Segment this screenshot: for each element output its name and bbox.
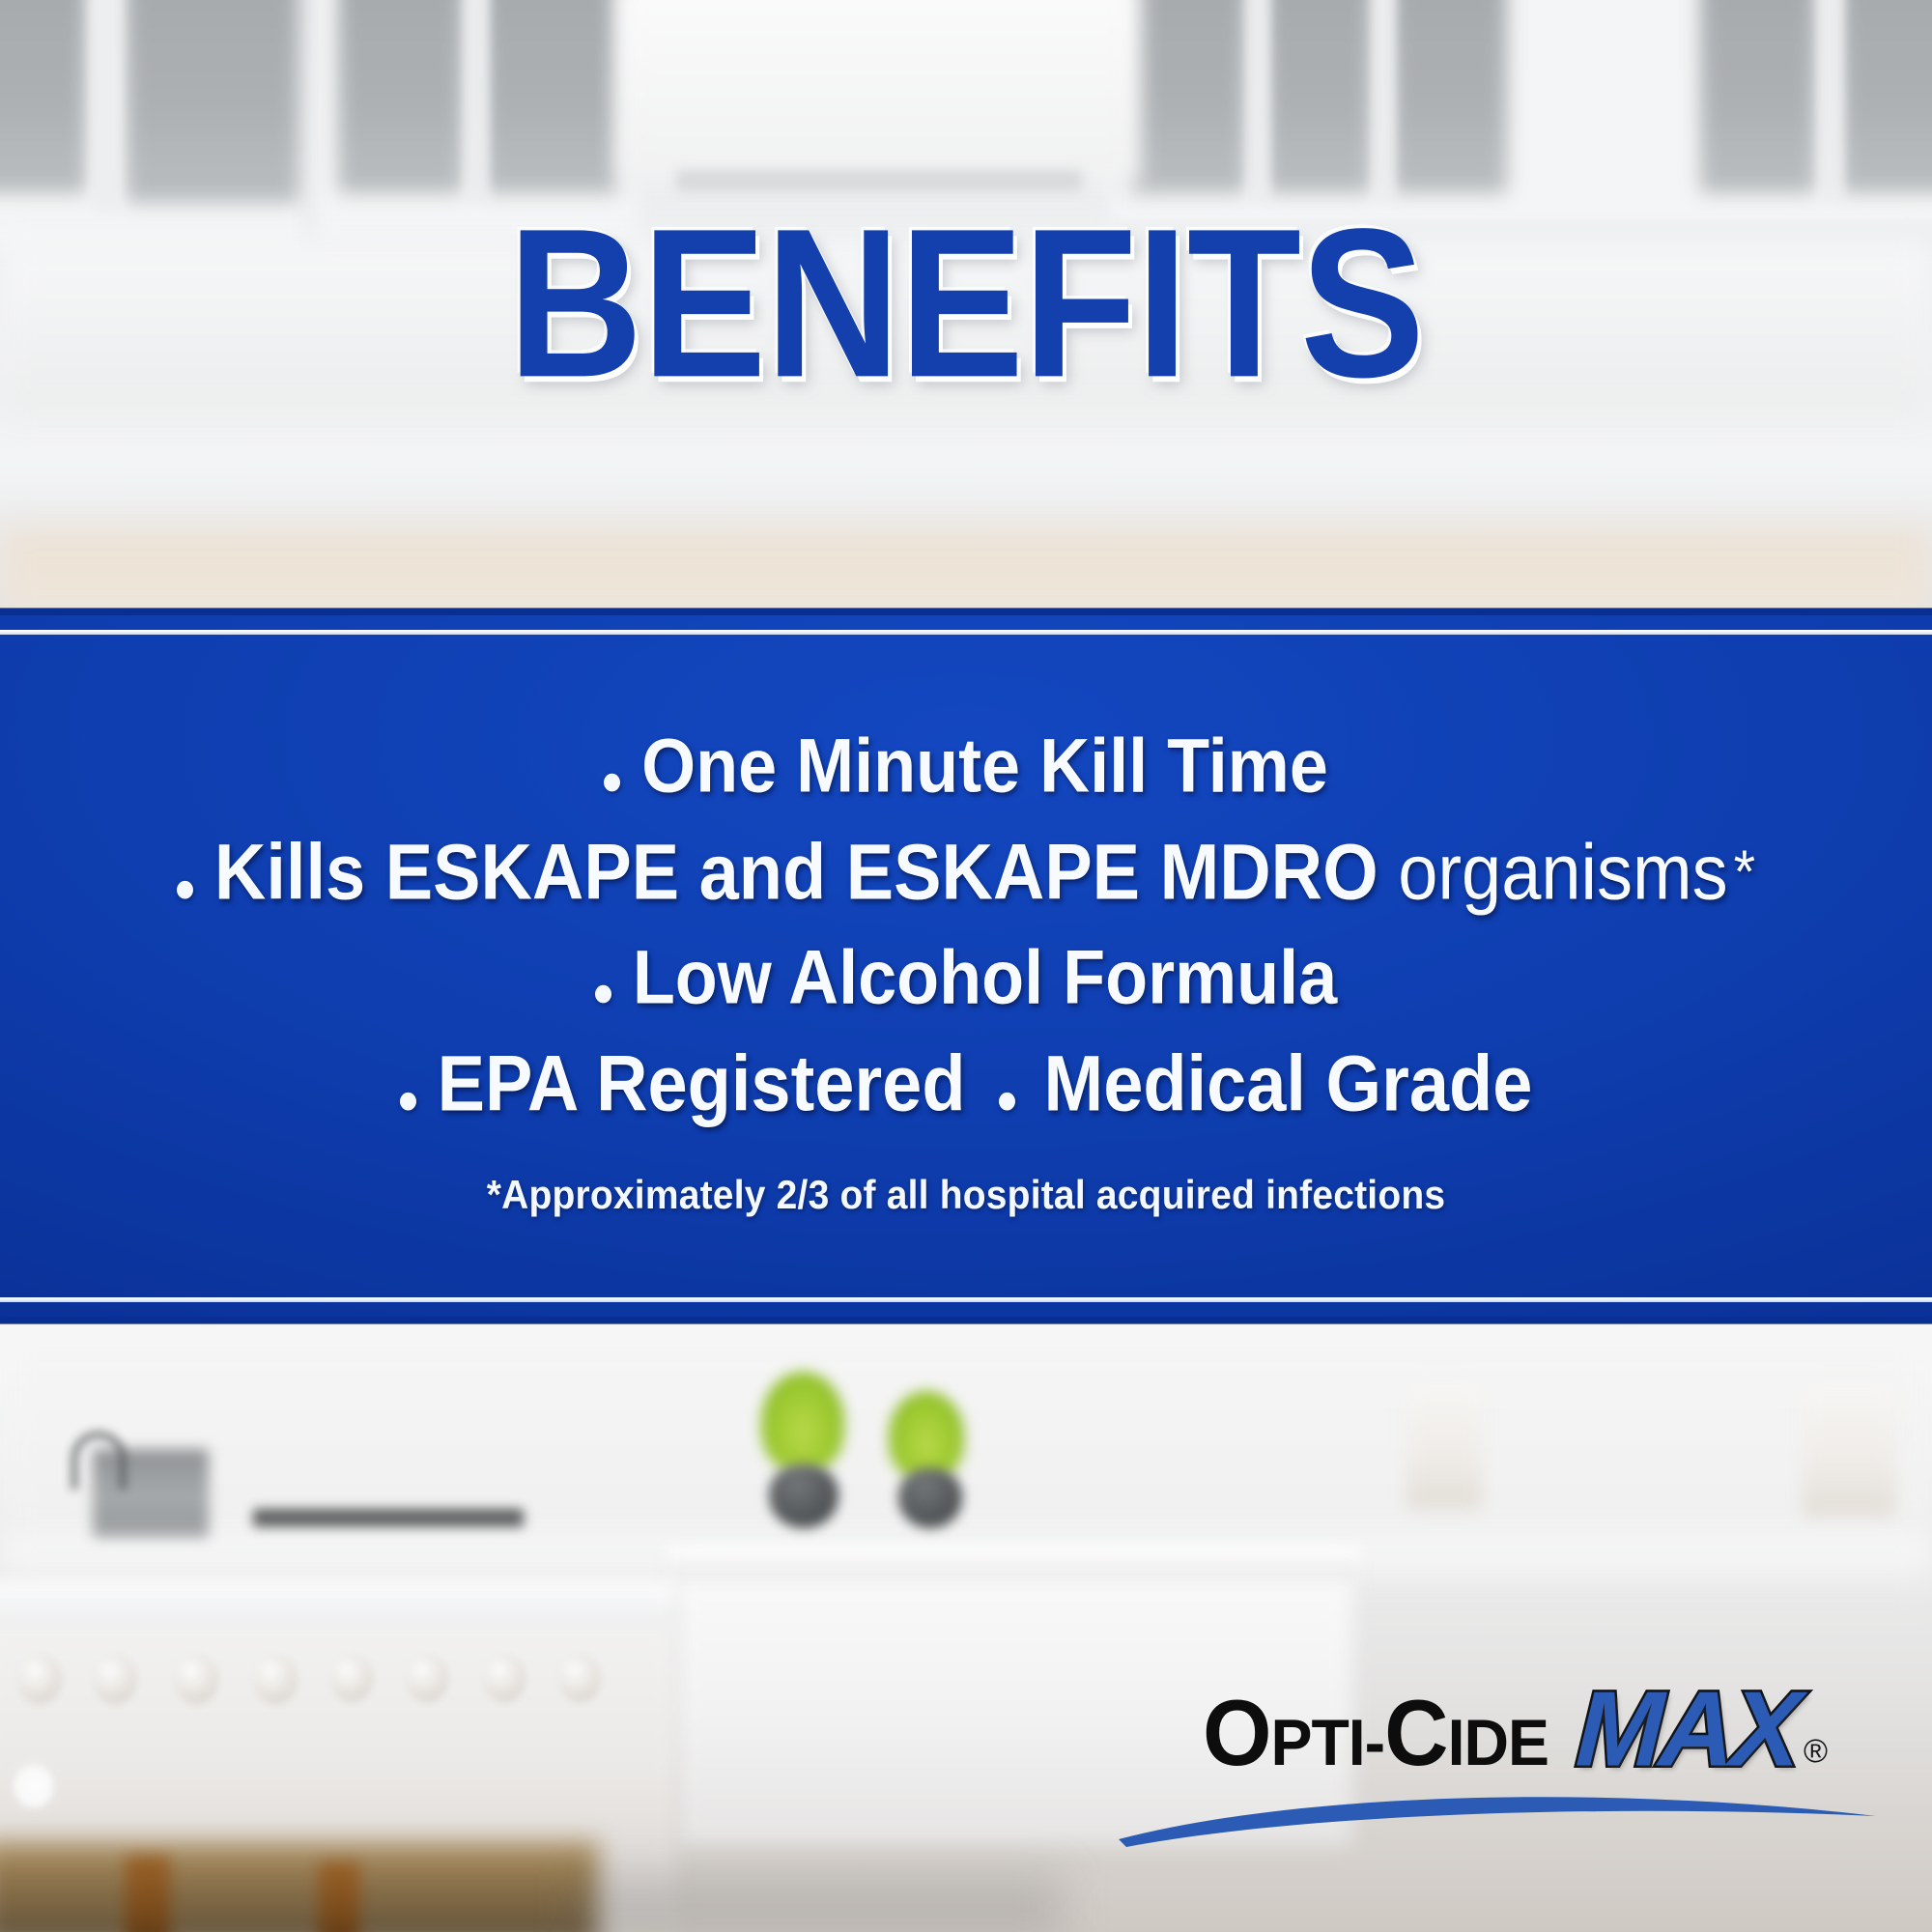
- title-zone: BENEFITS: [0, 0, 1932, 609]
- range-knob-5: [330, 1654, 373, 1702]
- benefit-label-medical-grade: Medical Grade: [1044, 1038, 1533, 1129]
- jar-far-right: [1803, 1383, 1895, 1517]
- logo-letter-c: C: [1384, 1682, 1447, 1785]
- range-knob-6: [406, 1654, 448, 1702]
- logo-letter-o: O: [1203, 1682, 1271, 1785]
- footnote-marker-icon: *: [1734, 838, 1755, 908]
- benefit-item-low-alcohol: Low Alcohol Formula: [595, 934, 1337, 1021]
- logo-max-text: MAX: [1574, 1667, 1801, 1791]
- bullet-dot-icon: [999, 1093, 1015, 1111]
- bullet-dot-icon: [177, 881, 193, 899]
- logo-swoosh-icon: [1111, 1783, 1884, 1853]
- kettle-handle: [71, 1432, 126, 1490]
- wood-element-mid: [319, 1862, 359, 1932]
- panel-top-rule: [0, 630, 1932, 635]
- jar-right: [1406, 1381, 1482, 1509]
- bullet-dot-icon: [595, 985, 611, 1004]
- plant-pot-right: [898, 1468, 962, 1528]
- panel-footnote: *Approximately 2/3 of all hospital acqui…: [487, 1173, 1446, 1219]
- range-knob-4: [253, 1654, 298, 1704]
- registered-trademark-icon: ®: [1804, 1733, 1828, 1771]
- brand-logo: OPTI-CIDE MAX ®: [1111, 1669, 1884, 1872]
- bullet-dot-icon: [604, 774, 620, 792]
- benefit-label-eskape-light: organisms: [1398, 827, 1727, 918]
- plant-foliage-right: [889, 1391, 964, 1480]
- ambient-shadow-lower: [580, 1874, 1063, 1932]
- poster-canvas: BENEFITS One Minute Kill Time Kills ESKA…: [0, 0, 1932, 1932]
- logo-opti-cide-text: OPTI-CIDE: [1203, 1681, 1548, 1787]
- benefit-item-epa-medical: EPA Registered Medical Grade: [400, 1038, 1533, 1129]
- panel-top-edge: [0, 609, 1932, 615]
- range-knob-7: [483, 1654, 526, 1702]
- plant-pot-left: [769, 1464, 838, 1528]
- benefits-list: One Minute Kill Time Kills ESKAPE and ES…: [0, 641, 1932, 1291]
- wood-element-left: [126, 1857, 170, 1932]
- benefit-item-kill-time: One Minute Kill Time: [604, 723, 1328, 810]
- panel-bottom-edge: [0, 1317, 1932, 1323]
- benefit-label-kill-time: One Minute Kill Time: [641, 723, 1328, 810]
- benefit-label-epa: EPA Registered: [438, 1038, 966, 1129]
- panel-bottom-rule: [0, 1297, 1932, 1302]
- bullet-dot-icon: [400, 1093, 416, 1111]
- range-indicator-light: [14, 1764, 54, 1808]
- logo-letters-ide: IDE: [1448, 1706, 1548, 1779]
- range-knob-1: [17, 1654, 62, 1704]
- benefit-label-eskape-bold: Kills ESKAPE and ESKAPE MDRO: [214, 827, 1378, 918]
- counter-utensil: [253, 1509, 524, 1528]
- brand-logo-wordmark: OPTI-CIDE MAX ®: [1203, 1669, 1828, 1790]
- range-knob-3: [174, 1654, 218, 1704]
- plant-foliage-left: [761, 1372, 844, 1472]
- logo-letters-pti: PTI-: [1271, 1706, 1385, 1779]
- benefits-panel: One Minute Kill Time Kills ESKAPE and ES…: [0, 609, 1932, 1323]
- oven-window: [0, 1841, 599, 1932]
- benefit-label-low-alcohol: Low Alcohol Formula: [633, 934, 1337, 1021]
- island-countertop: [667, 1546, 1362, 1580]
- range-knob-8: [558, 1654, 601, 1702]
- range-knob-2: [93, 1654, 137, 1704]
- page-title: BENEFITS: [508, 198, 1424, 410]
- benefit-item-eskape: Kills ESKAPE and ESKAPE MDRO organisms *: [177, 827, 1755, 918]
